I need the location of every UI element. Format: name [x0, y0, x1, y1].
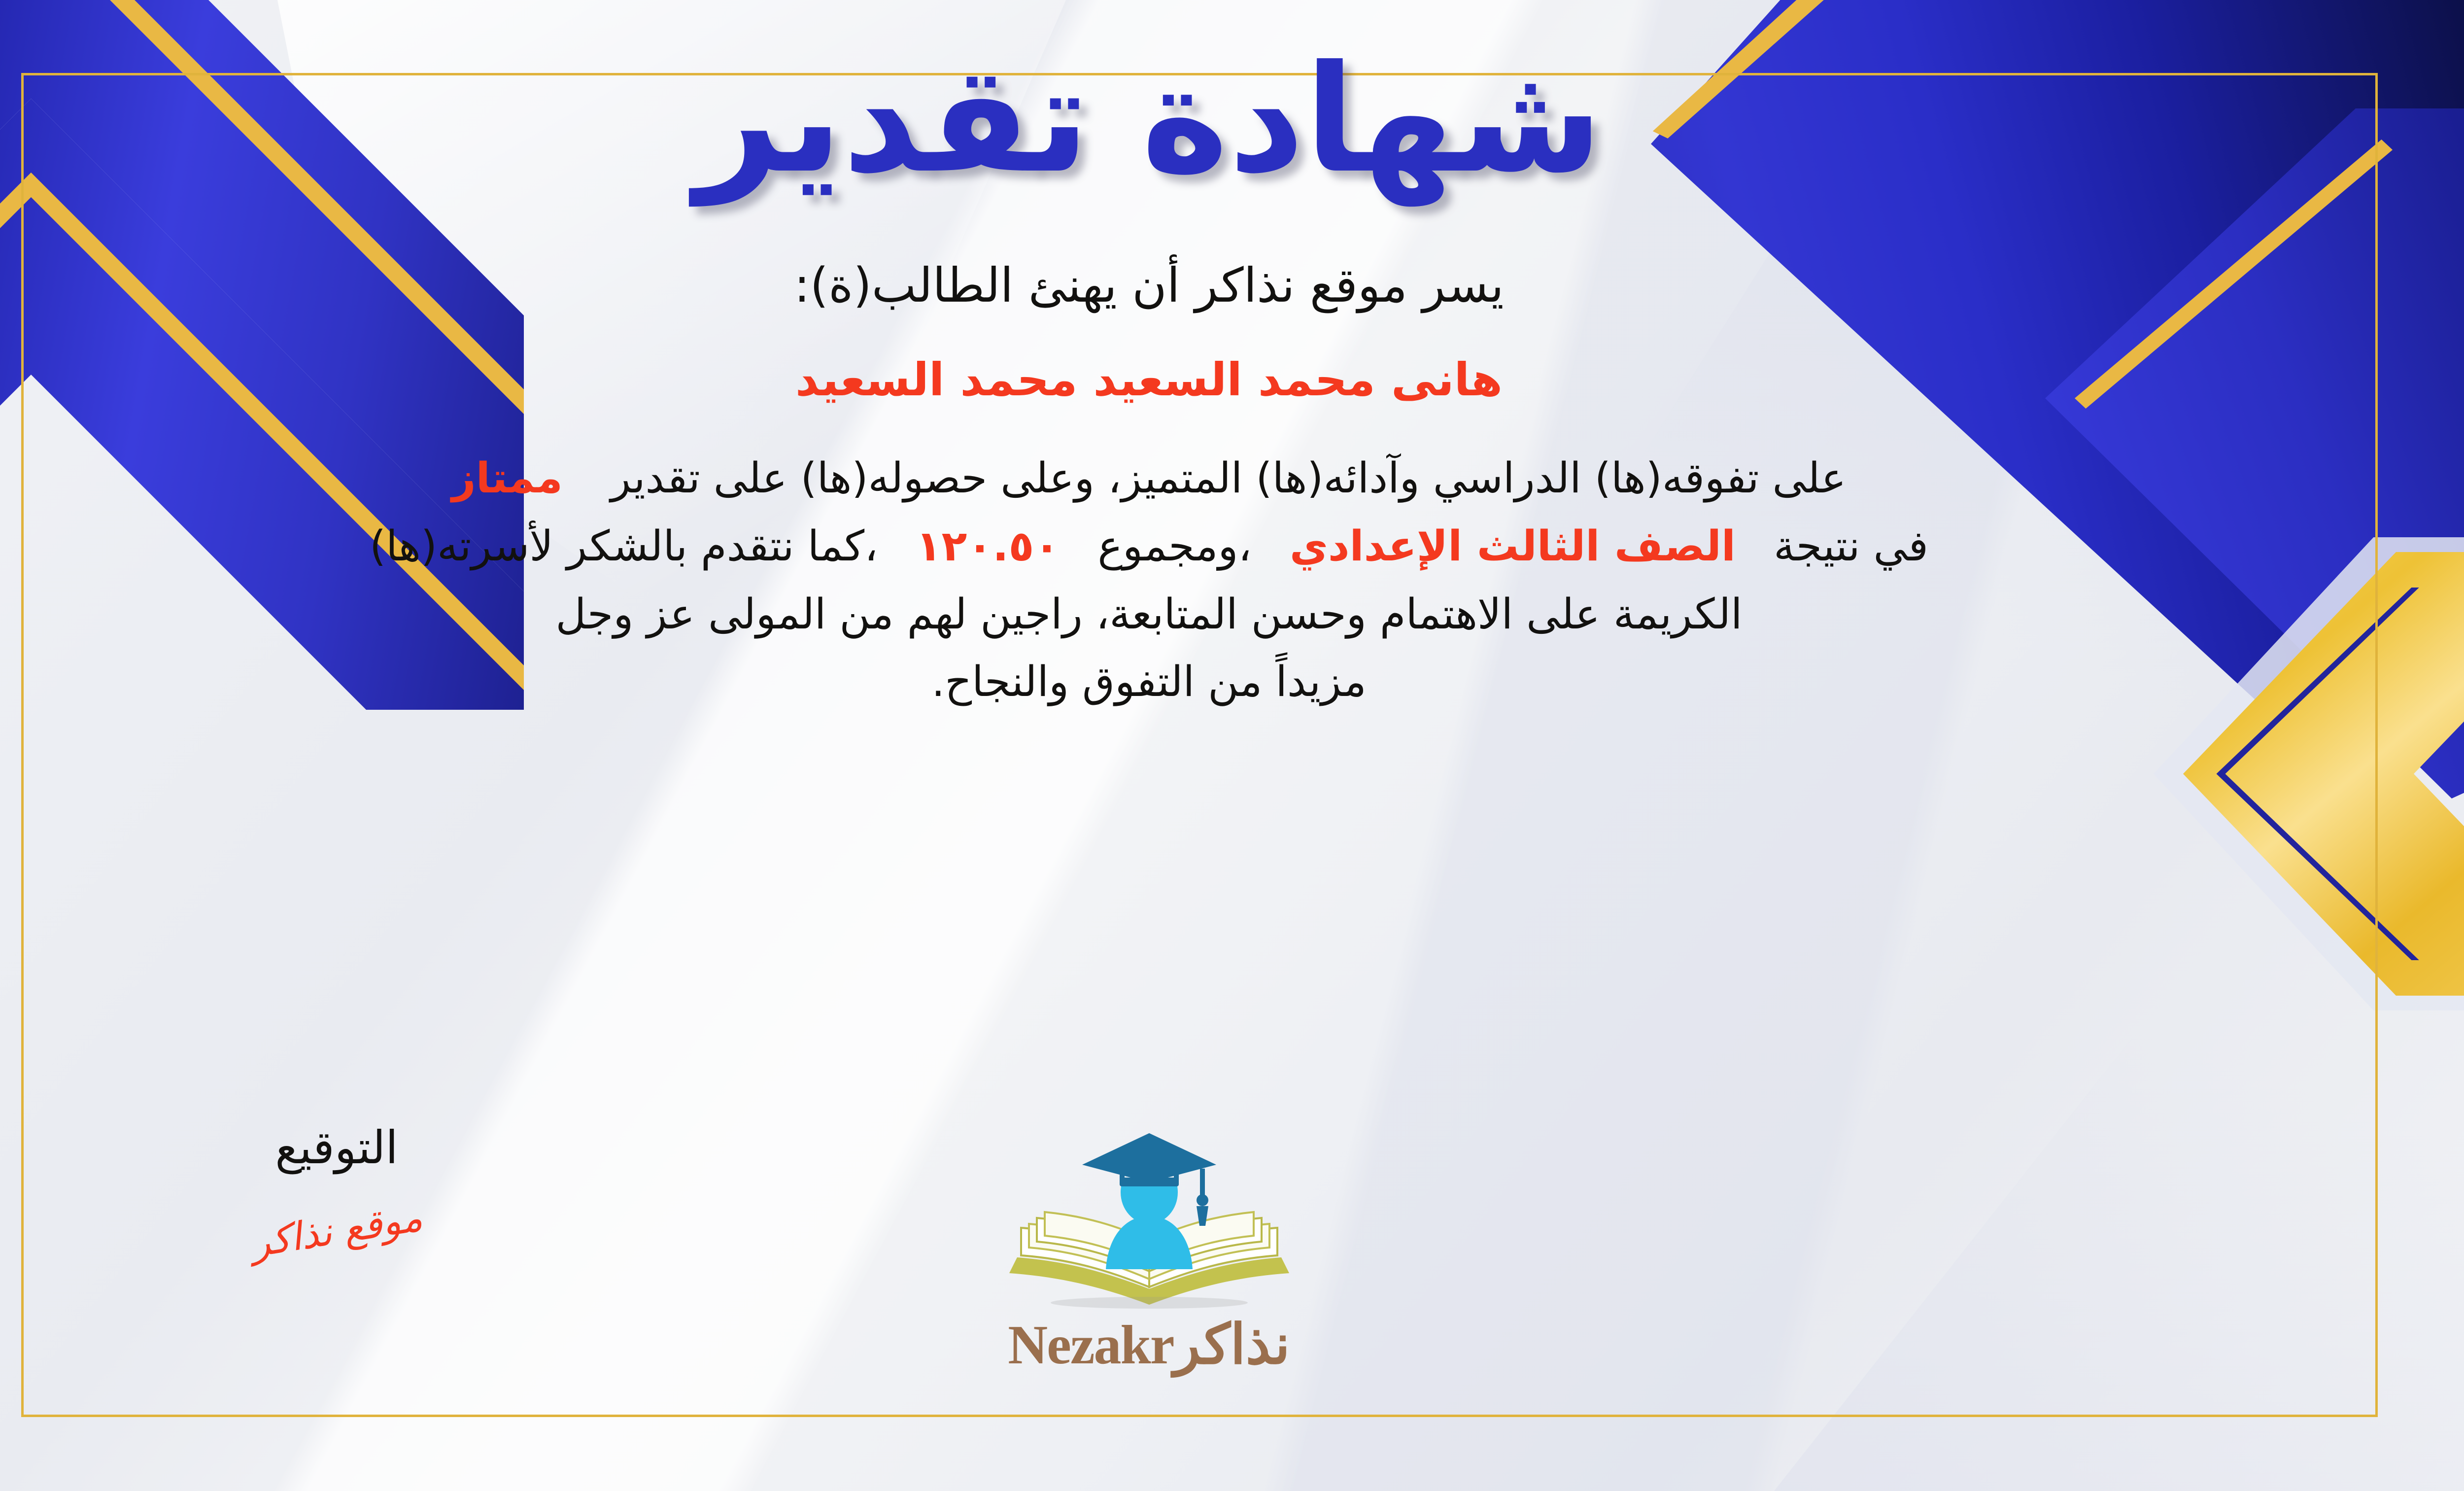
thanks-text: ،كما نتقدم بالشكر لأسرته(ها): [370, 522, 878, 571]
graduation-book-icon: [982, 1121, 1317, 1309]
achievement-text: على تفوقه(ها) الدراسي وآدائه(ها) المتميز…: [611, 454, 1846, 503]
certificate-body: يسر موقع نذاكر أن يهنئ الطالب(ة): هانى م…: [0, 249, 2322, 716]
logo-wordmark: نذاكرNezakr: [1008, 1313, 1290, 1377]
total-label: ،ومجموع: [1097, 522, 1252, 571]
logo-wordmark-arabic: نذاكر: [1174, 1315, 1290, 1376]
logo-wordmark-latin: Nezakr: [1008, 1315, 1173, 1376]
grade-rating-value: ممتاز: [452, 454, 563, 503]
signature-block: التوقيع موقع نذاكر: [149, 1121, 524, 1253]
signature-label: التوقيع: [149, 1121, 524, 1174]
student-name: هانى محمد السعيد محمد السعيد: [0, 345, 2322, 416]
certificate-footer: التوقيع موقع نذاكر: [0, 1121, 2464, 1397]
achievement-paragraph-line-3: الكريمة على الاهتمام وحسن المتابعة، راجي…: [0, 581, 2322, 649]
certificate-content: شهادة تقدير يسر موقع نذاكر أن يهنئ الطال…: [0, 0, 2464, 1491]
site-logo: نذاكرNezakr: [962, 1121, 1336, 1377]
total-score-value: ١٢٠.٥٠: [916, 522, 1060, 571]
signature-handwriting: موقع نذاكر: [248, 1195, 425, 1266]
achievement-paragraph-line-4: مزيداً من التفوق والنجاح.: [0, 648, 2322, 716]
intro-line: يسر موقع نذاكر أن يهنئ الطالب(ة):: [0, 249, 2322, 322]
result-label: في نتيجة: [1774, 522, 1928, 571]
certificate-title: شهادة تقدير: [695, 35, 1603, 205]
achievement-paragraph-line-1: على تفوقه(ها) الدراسي وآدائه(ها) المتميز…: [0, 445, 2322, 513]
achievement-paragraph-line-2: في نتيجة الصف الثالث الإعدادي ،ومجموع ١٢…: [0, 513, 2322, 581]
grade-level-value: الصف الثالث الإعدادي: [1290, 522, 1736, 571]
certificate-canvas: شهادة تقدير يسر موقع نذاكر أن يهنئ الطال…: [0, 0, 2464, 1491]
